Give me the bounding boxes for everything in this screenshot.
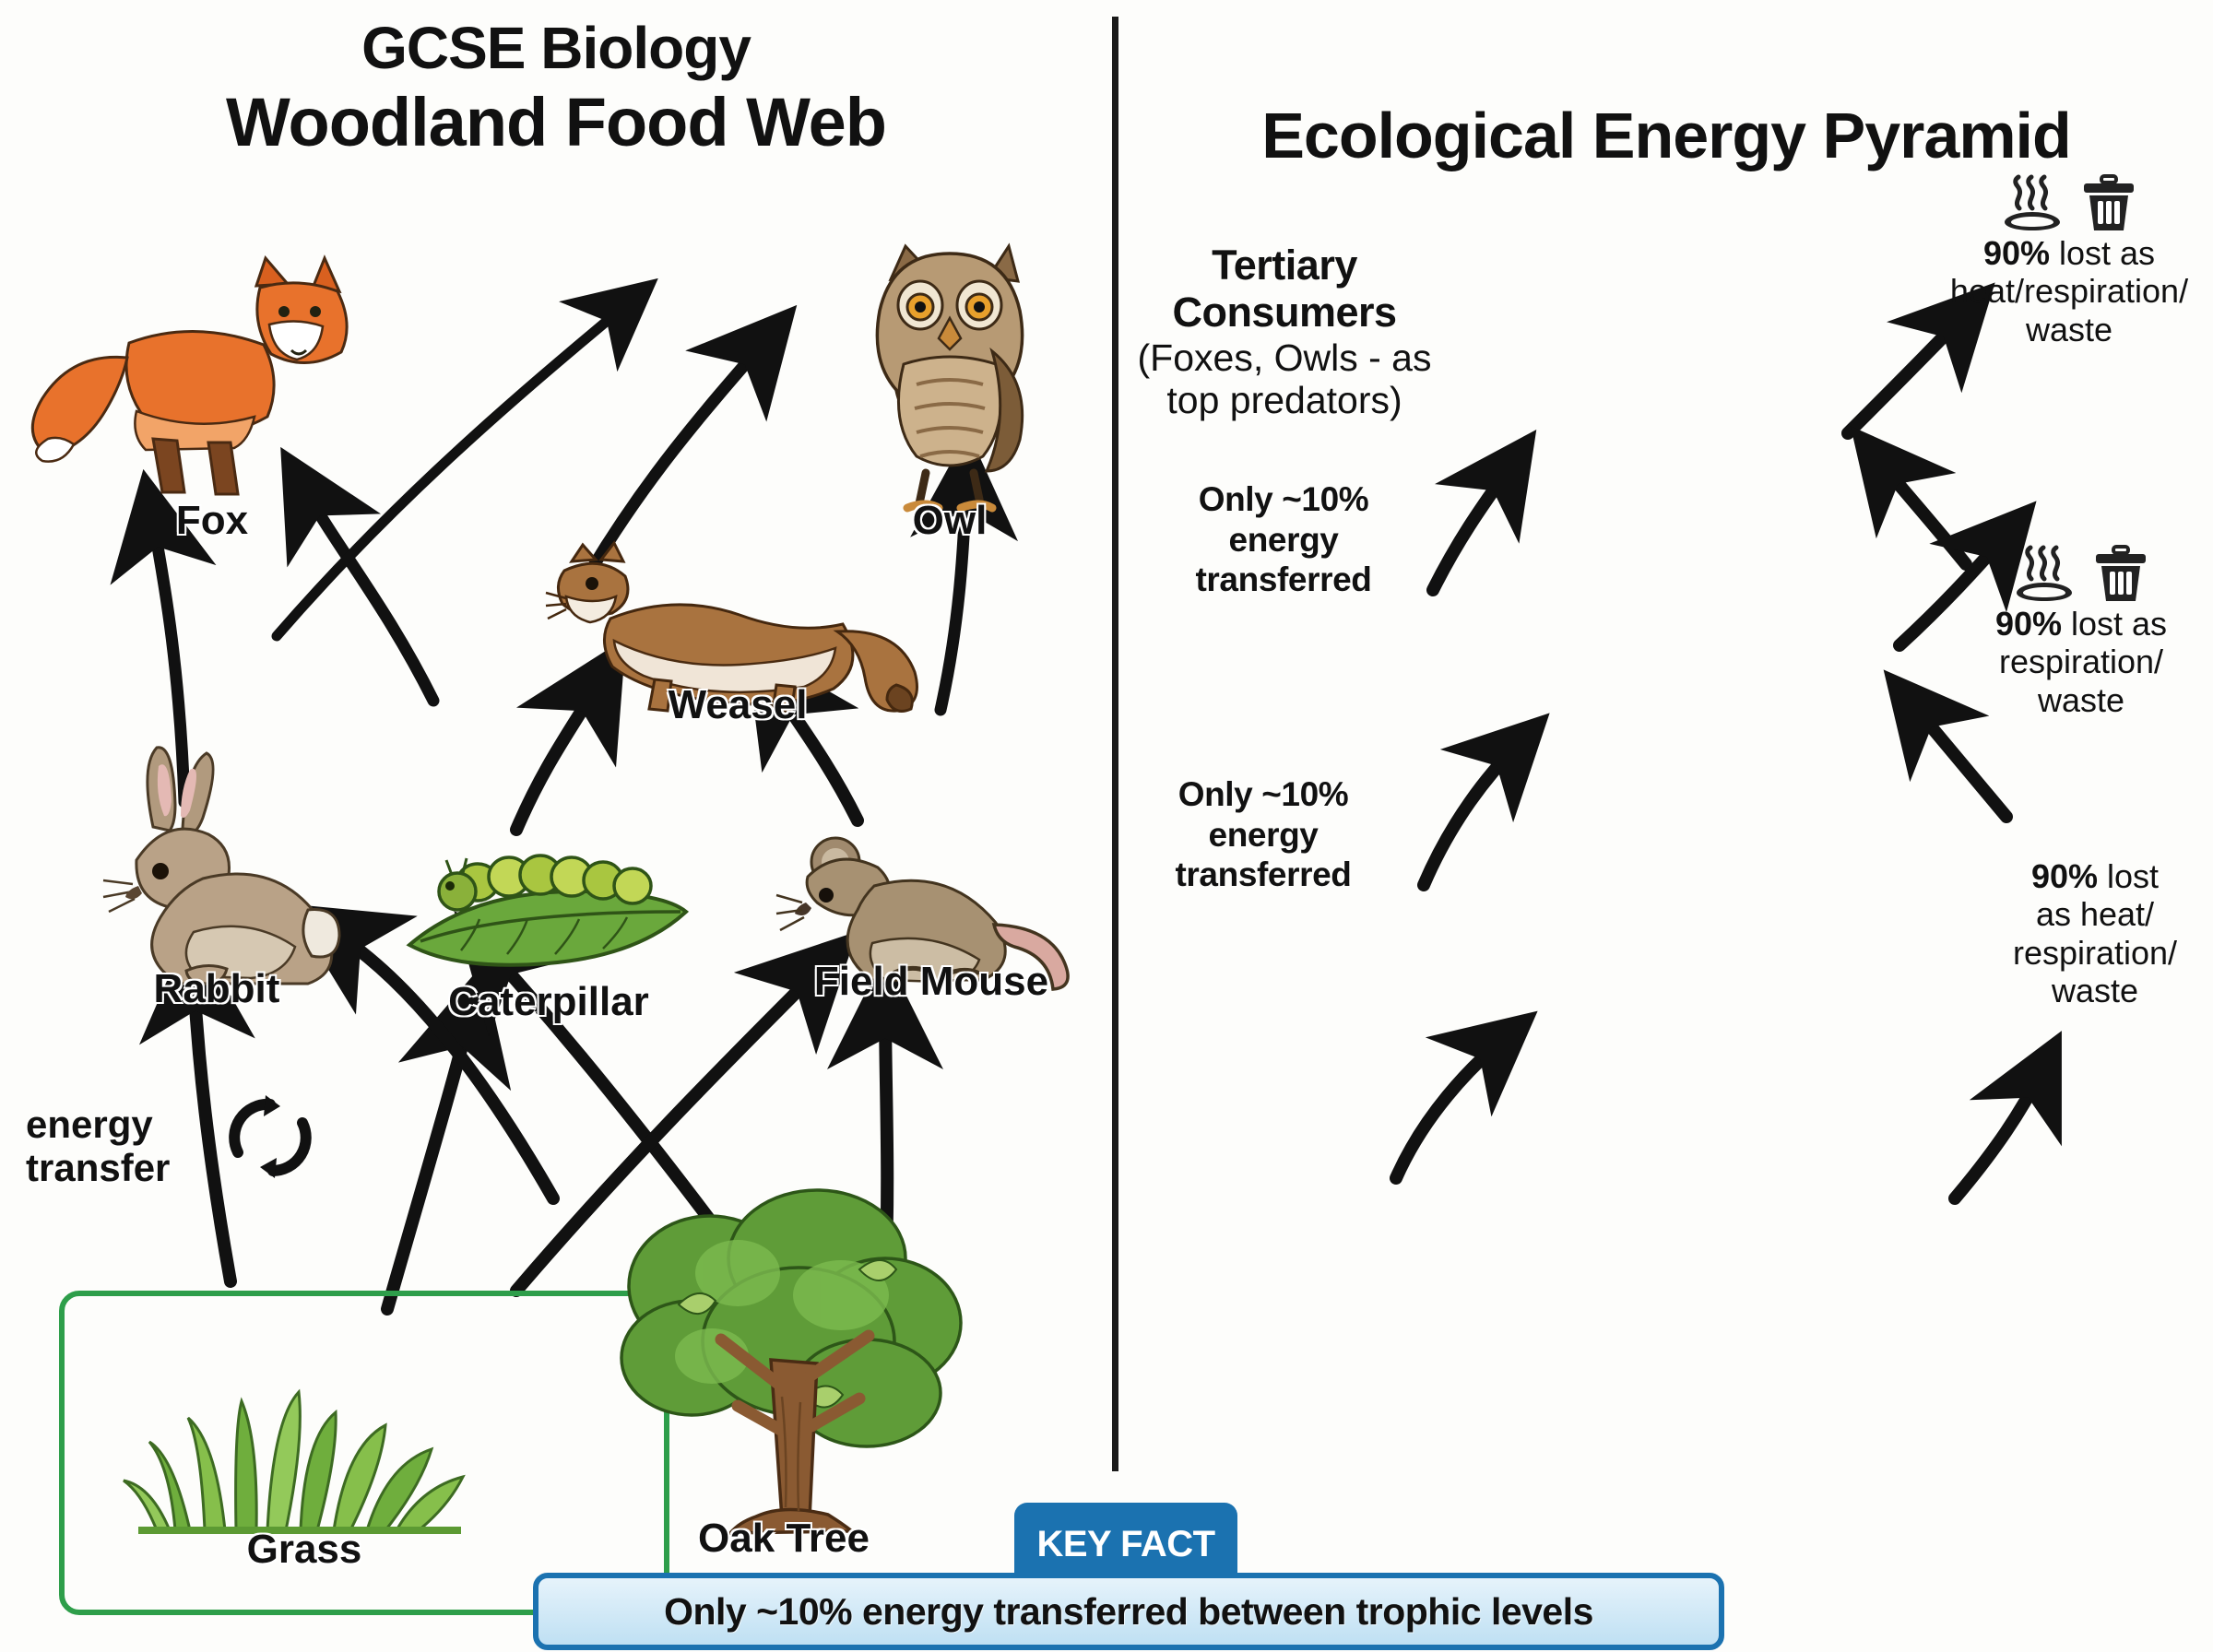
loss-percent-secondary: 90% [1995, 605, 2062, 643]
loss-secondary-line3: waste [1949, 681, 2213, 719]
organism-label-oak-tree: Oak Tree [590, 1516, 977, 1562]
loss-percent-primary: 90% [2031, 857, 2098, 895]
key-fact-tab-label: KEY FACT [1036, 1524, 1214, 1565]
loss-secondary-line2: respiration/ [1949, 643, 2213, 680]
loss-tertiary-line2: heat/respiration/ [1931, 272, 2207, 310]
energy-transfer-line2: transfer [26, 1146, 238, 1189]
heat-steam-icon [2003, 175, 2062, 232]
organism-label-grass: Grass [120, 1527, 489, 1573]
loss-rest-tertiary: lost as [2050, 234, 2155, 272]
loss-icons-secondary [1949, 546, 2213, 603]
heat-steam-icon [2015, 546, 2074, 603]
loss-percent-tertiary: 90% [1983, 234, 2050, 272]
key-fact-banner: Only ~10% energy transferred between tro… [533, 1573, 1724, 1650]
owl-illustration [811, 212, 1088, 544]
food-web-panel: GCSE Biology Woodland Food Web [0, 0, 1112, 1652]
loss-rest-secondary: lost as [2062, 605, 2167, 643]
loss-text-secondary: 90% lost as respiration/ waste [1949, 605, 2213, 719]
oak-tree-illustration [590, 1171, 977, 1567]
organism-label-weasel: Weasel [544, 682, 931, 728]
organism-label-fox: Fox [18, 498, 406, 544]
panel-divider [1112, 17, 1118, 1471]
energy-transfer-line1: energy [26, 1103, 238, 1146]
loss-primary-line3: respiration/ [1977, 934, 2213, 972]
organism-fox[interactable]: Fox [18, 221, 406, 535]
organism-label-field-mouse: Field Mouse [775, 959, 1088, 1005]
energy-loss-secondary: 90% lost as respiration/ waste [1949, 546, 2213, 719]
organism-label-caterpillar: Caterpillar [396, 979, 701, 1025]
loss-icons-tertiary [1931, 175, 2207, 232]
organism-rabbit[interactable]: Rabbit [65, 728, 369, 1005]
rabbit-illustration [65, 728, 369, 1005]
loss-primary-line4: waste [1977, 972, 2213, 1009]
organism-label-rabbit: Rabbit [65, 966, 369, 1012]
organism-field-mouse[interactable]: Field Mouse [775, 784, 1088, 1014]
organism-weasel[interactable]: Weasel [544, 516, 931, 728]
organism-oak-tree[interactable]: Oak Tree [590, 1171, 977, 1567]
loss-text-primary: 90% lost as heat/ respiration/ waste [1977, 857, 2213, 1010]
loss-rest-primary: lost [2098, 857, 2159, 895]
trash-bin-icon [2094, 546, 2148, 603]
energy-loss-primary: 90% lost as heat/ respiration/ waste [1977, 857, 2213, 1010]
organism-grass[interactable]: Grass [120, 1318, 489, 1567]
key-fact-text: Only ~10% energy transferred between tro… [664, 1590, 1593, 1634]
loss-text-tertiary: 90% lost as heat/respiration/ waste [1931, 234, 2207, 348]
energy-pyramid-panel: Ecological Energy Pyramid Tertiary Consu… [1119, 0, 2213, 1652]
loss-tertiary-line3: waste [1931, 311, 2207, 348]
fox-illustration [18, 221, 406, 535]
trash-bin-icon [2082, 175, 2136, 232]
energy-transfer-label: energy transfer [26, 1103, 238, 1189]
loss-primary-line2: as heat/ [1977, 895, 2213, 933]
organism-owl[interactable]: Owl [811, 212, 1088, 544]
energy-loss-tertiary: 90% lost as heat/respiration/ waste [1931, 175, 2207, 348]
organism-caterpillar[interactable]: Caterpillar [396, 811, 701, 1014]
